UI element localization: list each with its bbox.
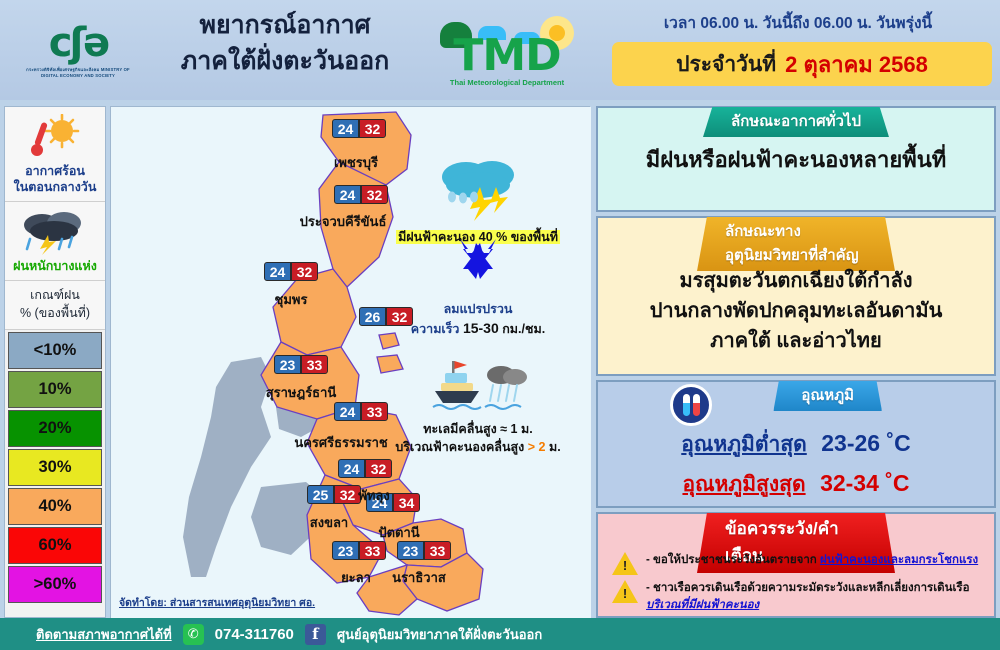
facebook-icon[interactable]: f — [305, 624, 326, 645]
province-temperature-badge: 2333 — [332, 541, 386, 560]
warning-triangle-icon — [612, 552, 638, 576]
thermometer-icon — [670, 384, 712, 426]
province-label: เพชรบุรี — [334, 152, 378, 173]
legend-scale-item: 60% — [8, 527, 102, 564]
heavy-rain-cloud-icon — [7, 206, 103, 258]
temp-min: 24 — [334, 185, 361, 204]
general-weather-tab: ลักษณะอากาศทั่วไป — [703, 107, 889, 137]
center-sea-block: ทะเลมีคลื่นสูง ≈ 1 ม. บริเวณฟ้าคะนองคลื่… — [373, 357, 583, 456]
province-temperature-badge: 2333 — [397, 541, 451, 560]
center-wind-block: ลมแปรปรวน ความเร็ว 15-30 กม./ชม. — [373, 235, 583, 338]
legend-scale-heading: เกณฑ์ฝน % (ของพื้นที่) — [5, 281, 105, 330]
temperature-min-row: อุณหภูมิต่ำสุด 23-26 ˚C — [598, 428, 994, 461]
province-label: ปัตตานี — [378, 522, 419, 543]
page-title-line1: พยากรณ์อากาศ — [140, 8, 430, 44]
footer-phone[interactable]: 074-311760 — [215, 626, 294, 643]
thunderstorm-cloud-icon — [373, 155, 583, 226]
temp-min: 23 — [332, 541, 359, 560]
forecast-time-range: เวลา 06.00 น. วันนี้ถึง 06.00 น. วันพรุ่… — [600, 10, 996, 35]
page-footer: ติดตามสภาพอากาศได้ที่ ✆ 074-311760 f ศูน… — [0, 618, 1000, 650]
temp-max: 33 — [301, 355, 328, 374]
province-label: นราธิวาส — [392, 567, 446, 588]
forecast-date-banner: ประจำวันที่ 2 ตุลาคม 2568 — [612, 42, 992, 86]
temp-min: 23 — [274, 355, 301, 374]
legend-scale-item: >60% — [8, 566, 102, 603]
province-temperature-badge: 2432 — [332, 119, 386, 138]
variable-wind-arrows-icon — [373, 235, 583, 298]
warning-link-thunderstorm[interactable]: ฝนฟ้าคะนองและลมกระโชกแรง — [820, 554, 978, 566]
tmd-logo: TMD Thai Meteorological Department — [432, 14, 582, 92]
legend-scale-item: 20% — [8, 410, 102, 447]
ministry-logo: cʃə กระทรวงดิจิทัลเพื่อเศรษฐกิจและสังคม … — [22, 14, 134, 88]
temp-min: 24 — [332, 119, 359, 138]
meteorology-body: มรสุมตะวันตกเฉียงใต้กำลัง ปานกลางพัดปกคล… — [598, 266, 994, 356]
legend-hot-weather: อากาศร้อน ในตอนกลางวัน — [5, 107, 105, 202]
meteorology-tab: ลักษณะทางอุตุนิยมวิทยาที่สำคัญ — [697, 217, 895, 271]
footer-follow-label: ติดตามสภาพอากาศได้ที่ — [36, 624, 172, 645]
map-panel[interactable]: 2432243224322632233324332432253224342333… — [110, 106, 590, 618]
legend-scale-item: 10% — [8, 371, 102, 408]
ministry-logo-mark: cʃə — [49, 23, 107, 63]
temperature-panel: อุณหภูมิ อุณหภูมิต่ำสุด 23-26 ˚C อุณหภูม… — [596, 380, 996, 508]
wind-caption: ลมแปรปรวน ความเร็ว 15-30 กม./ชม. — [373, 300, 583, 338]
temp-min: 24 — [334, 402, 361, 421]
center-thunderstorm-block: มีฝนฟ้าคะนอง 40 % ของพื้นที่ — [373, 155, 583, 246]
temp-max: 34 — [393, 493, 420, 512]
temp-max: 32 — [359, 119, 386, 138]
temp-min: 23 — [397, 541, 424, 560]
province-temperature-badge: 2432 — [338, 459, 392, 478]
sea-wave-line-1: ทะเลมีคลื่นสูง ≈ 1 ม. — [373, 420, 583, 438]
temp-min: 24 — [264, 262, 291, 281]
legend-hot-caption: อากาศร้อน ในตอนกลางวัน — [7, 163, 103, 195]
tmd-logo-subtitle: Thai Meteorological Department — [432, 78, 582, 87]
legend-scale-item: <10% — [8, 332, 102, 369]
wind-speed-line: ความเร็ว 15-30 กม./ชม. — [373, 318, 583, 338]
warning-link-storm-area[interactable]: บริเวณที่มีฝนฟ้าคะนอง — [646, 599, 759, 611]
province-label: สงขลา — [310, 512, 348, 533]
legend-heavy-rain: ฝนหนักบางแห่ง — [5, 202, 105, 281]
warning-item-1: - ขอให้ประชาชนระวังอันตรายจาก ฝนฟ้าคะนอง… — [612, 552, 990, 576]
legend-scale-item: 30% — [8, 449, 102, 486]
date-label: ประจำวันที่ — [676, 48, 776, 81]
sun-thermometer-icon — [7, 111, 103, 163]
legend-panel: อากาศร้อน ในตอนกลางวัน ฝนหนักบางแห่ง เกณ… — [4, 106, 106, 618]
temp-min: 24 — [338, 459, 365, 478]
temp-max: 32 — [334, 485, 361, 504]
page-title: พยากรณ์อากาศ ภาคใต้ฝั่งตะวันออก — [140, 8, 430, 79]
footer-facebook-page[interactable]: ศูนย์อุตุนิยมวิทยาภาคใต้ฝั่งตะวันออก — [337, 624, 542, 645]
province-label: ชุมพร — [275, 289, 308, 310]
temperature-max-row: อุณหภูมิสูงสุด 32-34 ˚C — [598, 468, 994, 501]
warning-panel: ข้อควรระวัง/คำเตือน - ขอให้ประชาชนระวังอ… — [596, 512, 996, 618]
province-temperature-badge: 2432 — [264, 262, 318, 281]
sea-wave-line-2: บริเวณฟ้าคะนองคลื่นสูง > 2 ม. — [373, 438, 583, 456]
temp-max: 33 — [424, 541, 451, 560]
temp-max: 32 — [291, 262, 318, 281]
temperature-tab: อุณหภูมิ — [773, 381, 882, 411]
legend-scale-list: <10%10%20%30%40%60%>60% — [5, 332, 105, 603]
boat-and-rain-icon — [373, 357, 583, 418]
page-header: cʃə กระทรวงดิจิทัลเพื่อเศรษฐกิจและสังคม … — [0, 0, 1000, 100]
ministry-logo-text: กระทรวงดิจิทัลเพื่อเศรษฐกิจและสังคม MINI… — [22, 67, 134, 80]
hot-thermometer-bar — [693, 394, 700, 416]
phone-icon: ✆ — [183, 624, 204, 645]
meteorology-panel: ลักษณะทางอุตุนิยมวิทยาที่สำคัญ มรสุมตะวั… — [596, 216, 996, 376]
temp-max: 33 — [359, 541, 386, 560]
province-label: ยะลา — [341, 567, 371, 588]
temp-min: 25 — [307, 485, 334, 504]
legend-scale-item: 40% — [8, 488, 102, 525]
page-title-line2: ภาคใต้ฝั่งตะวันออก — [140, 44, 430, 80]
map-attribution: จัดทำโดย: ส่วนสารสนเทศอุตุนิยมวิทยา ศอ. — [119, 594, 315, 611]
general-weather-panel: ลักษณะอากาศทั่วไป มีฝนหรือฝนฟ้าคะนองหลาย… — [596, 106, 996, 212]
warning-triangle-icon — [612, 580, 638, 604]
tmd-logo-word: TMD — [432, 30, 582, 81]
cold-thermometer-bar — [683, 394, 690, 416]
sea-caption: ทะเลมีคลื่นสูง ≈ 1 ม. บริเวณฟ้าคะนองคลื่… — [373, 420, 583, 456]
warning-item-2: - ชาวเรือควรเดินเรือด้วยความระมัดระวังแล… — [612, 580, 990, 615]
province-label: พัทลุง — [358, 485, 389, 506]
province-temperature-badge: 2333 — [274, 355, 328, 374]
date-value: 2 ตุลาคม 2568 — [785, 47, 928, 82]
province-label: สุราษฎร์ธานี — [266, 382, 337, 403]
temp-max: 32 — [365, 459, 392, 478]
province-temperature-badge: 2532 — [307, 485, 361, 504]
general-weather-body: มีฝนหรือฝนฟ้าคะนองหลายพื้นที่ — [598, 142, 994, 177]
legend-rain-caption: ฝนหนักบางแห่ง — [7, 258, 103, 274]
